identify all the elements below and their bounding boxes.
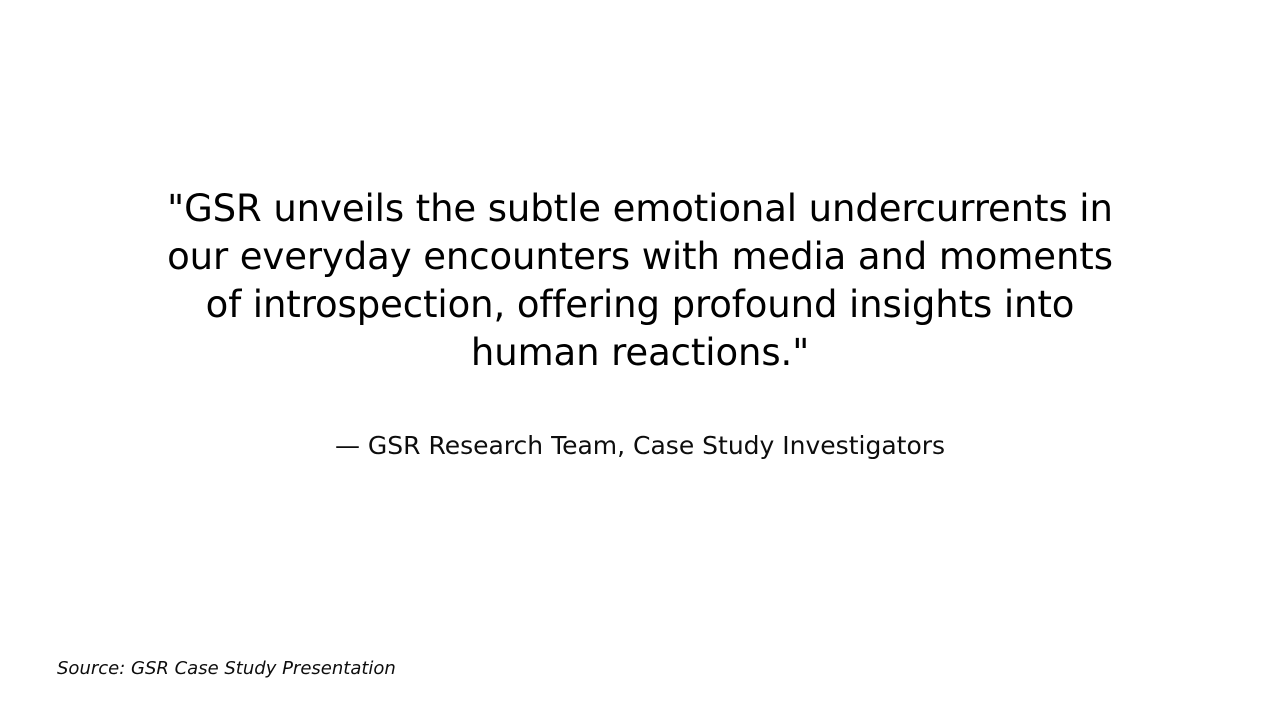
quote-attribution: — GSR Research Team, Case Study Investig… — [150, 377, 1130, 463]
quote-block: "GSR unveils the subtle emotional underc… — [150, 185, 1130, 463]
quote-text: "GSR unveils the subtle emotional underc… — [150, 185, 1130, 377]
source-note: Source: GSR Case Study Presentation — [57, 656, 396, 682]
quote-slide: "GSR unveils the subtle emotional underc… — [0, 0, 1280, 720]
